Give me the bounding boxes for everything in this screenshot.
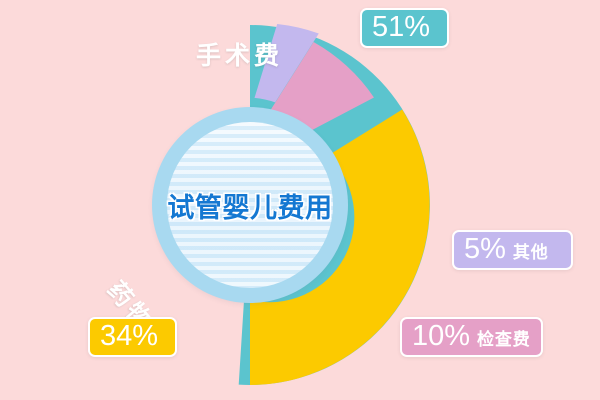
badge-other-category: 其他 (513, 238, 549, 263)
badge-exam-percent: 10% (412, 321, 470, 351)
badge-exam[interactable]: 10% 检查费 (400, 317, 543, 357)
badge-other[interactable]: 5% 其他 (452, 230, 573, 270)
badge-surgery[interactable]: 51% (360, 8, 449, 48)
donut-center-hub: 试管婴儿费用 (152, 107, 348, 303)
donut-center-hub-inner: 试管婴儿费用 (167, 122, 333, 288)
badge-other-percent: 5% (464, 234, 506, 264)
badge-exam-category: 检查费 (477, 325, 531, 350)
badge-surgery-percent: 51% (372, 12, 430, 42)
badge-drug-percent: 34% (100, 321, 158, 351)
badge-drug[interactable]: 34% (88, 317, 177, 357)
chart-center-title: 试管婴儿费用 (167, 186, 332, 225)
donut-chart-figure: 手术费 药物费 试管婴儿费用 51% 5% 其他 10% 检查费 34% (0, 0, 600, 400)
